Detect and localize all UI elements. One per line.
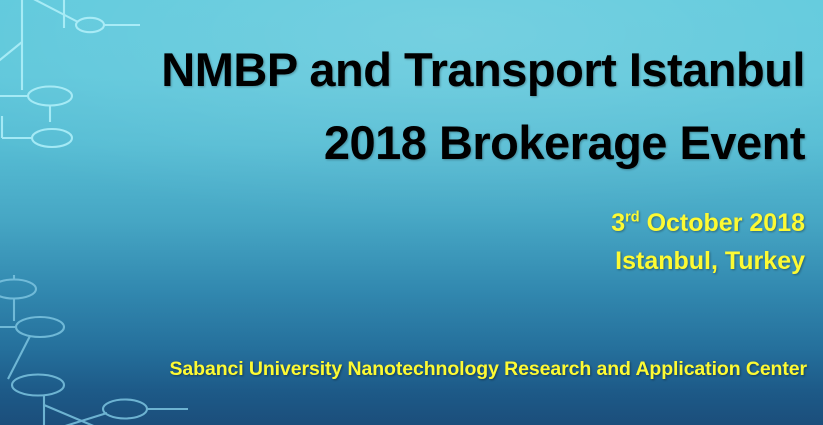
banner-text-layer: NMBP and Transport Istanbul 2018 Brokera… bbox=[0, 0, 823, 425]
event-date-ordinal: rd bbox=[625, 210, 640, 226]
page-title-line-1: NMBP and Transport Istanbul bbox=[15, 46, 805, 93]
event-date-day: 3 bbox=[611, 209, 625, 237]
event-date: 3rd October 2018 bbox=[15, 211, 805, 236]
page-title-line-2: 2018 Brokerage Event bbox=[15, 119, 805, 166]
event-date-rest: October 2018 bbox=[640, 209, 805, 237]
event-location: Istanbul, Turkey bbox=[15, 249, 805, 274]
event-venue: Sabanci University Nanotechnology Resear… bbox=[0, 358, 823, 381]
event-banner: NMBP and Transport Istanbul 2018 Brokera… bbox=[0, 0, 823, 425]
